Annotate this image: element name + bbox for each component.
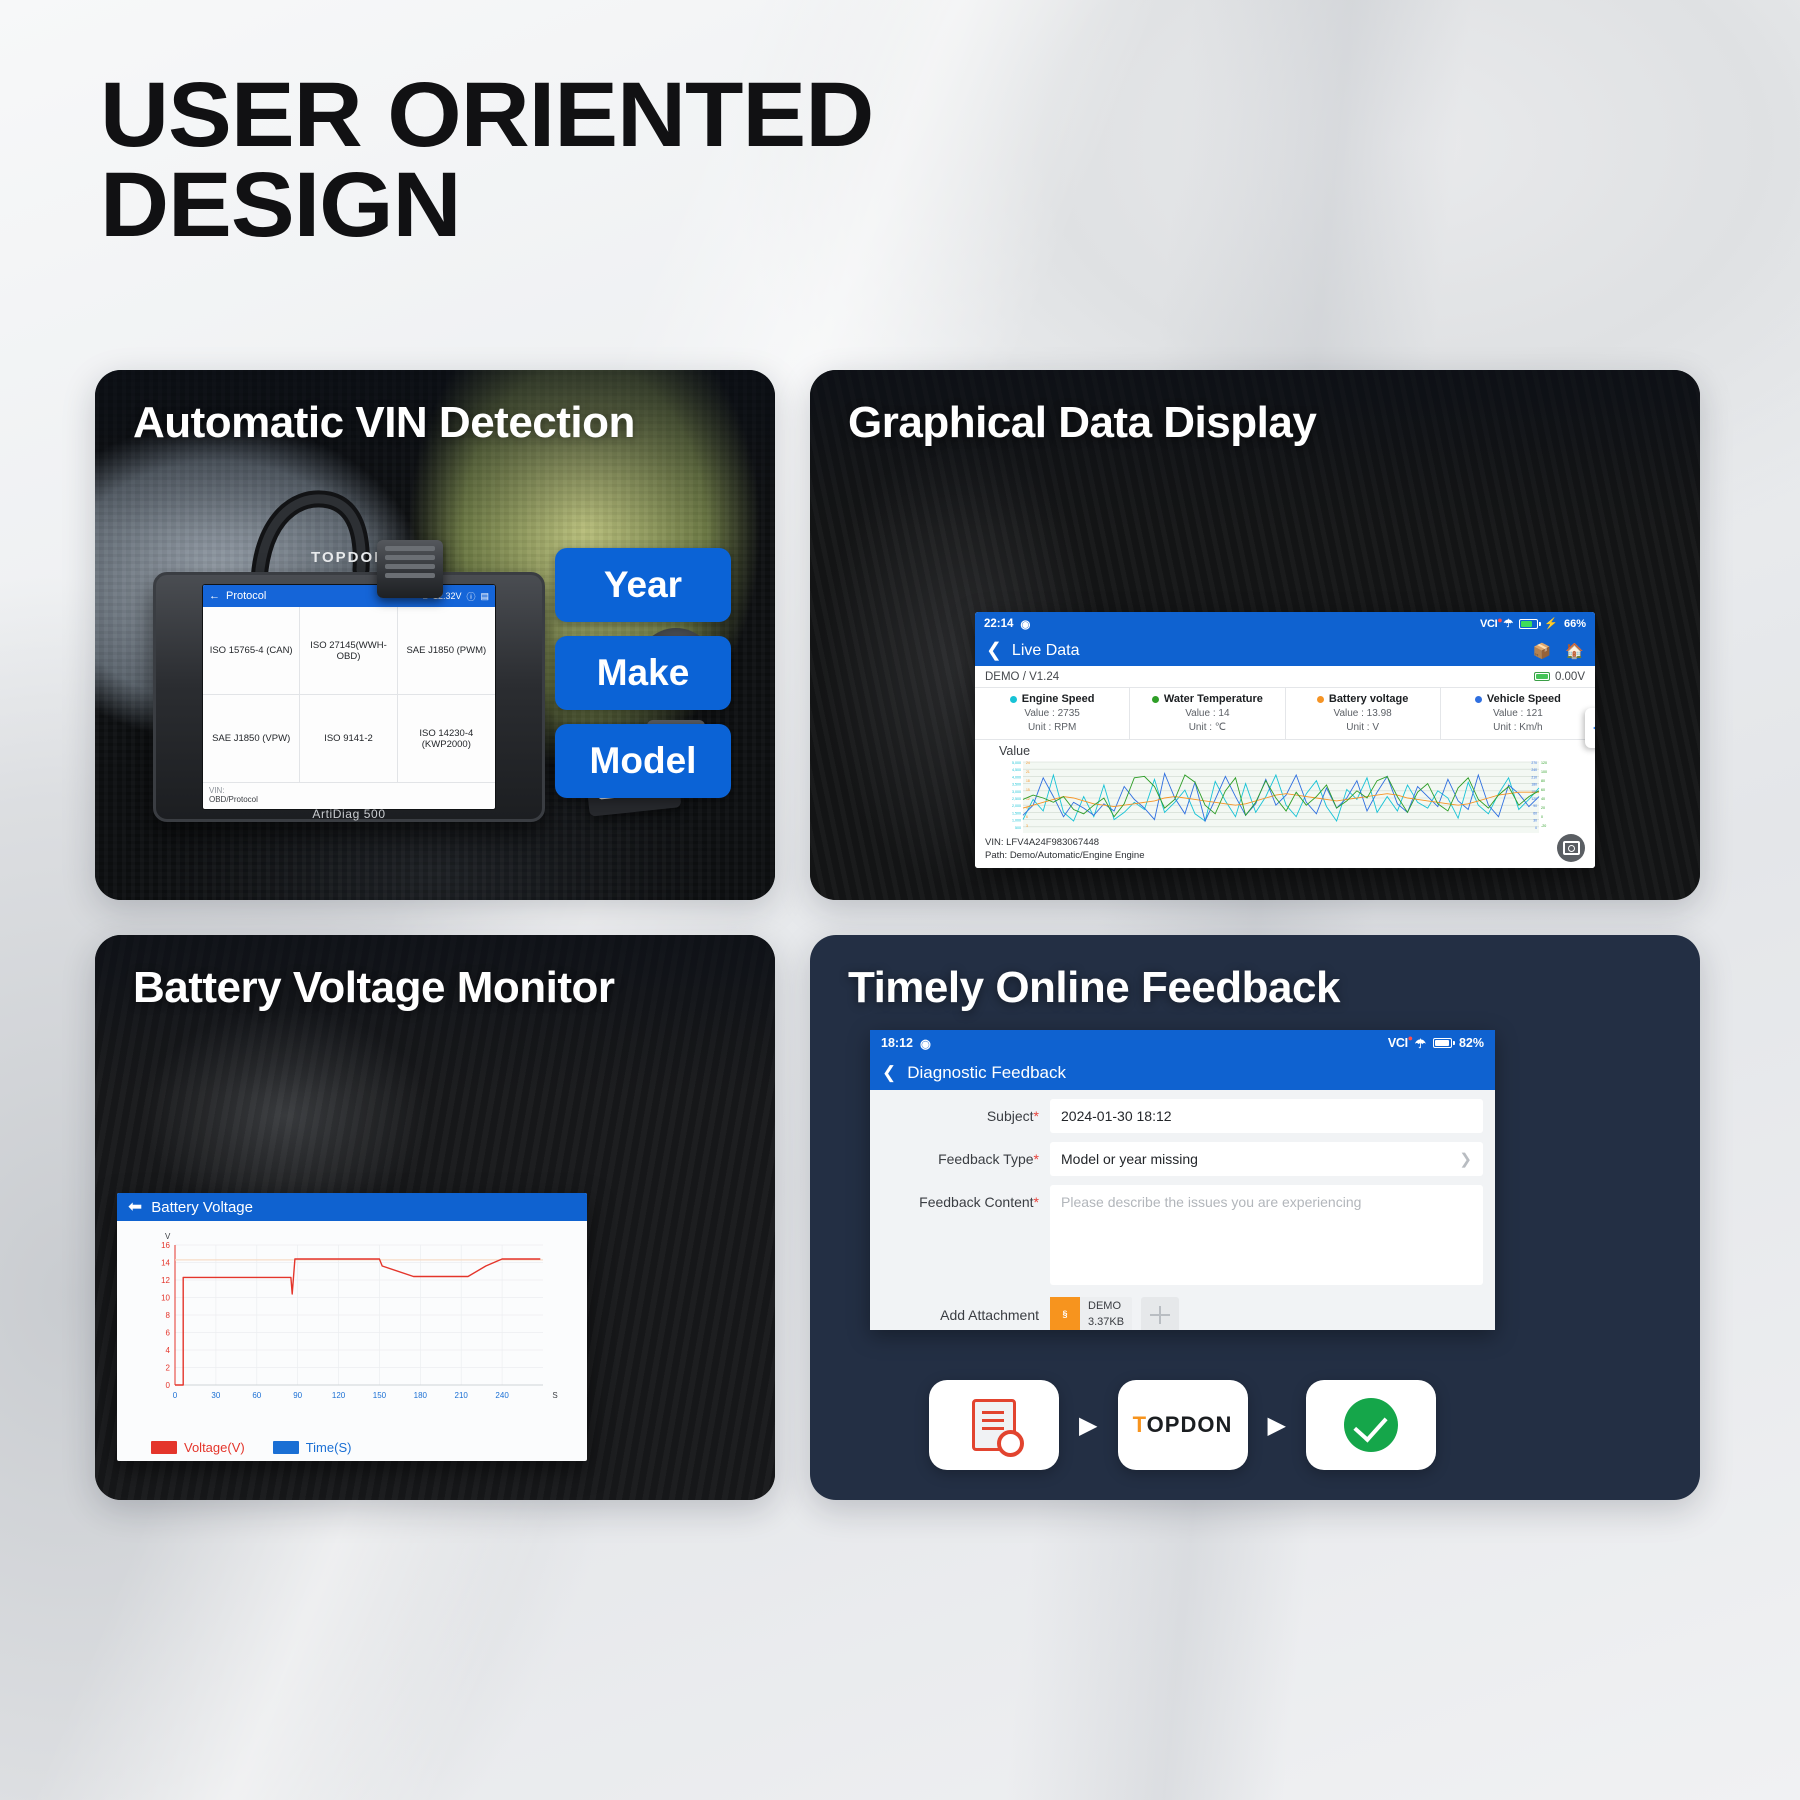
svg-text:16: 16: [161, 1241, 170, 1250]
live-data-column[interactable]: Engine Speed Value : 2735 Unit : RPM: [975, 688, 1130, 739]
battery-chart-legend: Voltage(V) Time(S): [151, 1440, 351, 1455]
svg-text:60: 60: [1541, 788, 1545, 792]
battery-nav-bar: ⬅ Battery Voltage: [117, 1193, 587, 1221]
diagnostic-feedback-screen: 18:12 ◉ VCI● ☂ 82% ❮ Diagnostic Feedback…: [870, 1030, 1495, 1330]
left-triangle-icon: [1593, 721, 1595, 735]
feedback-title: Diagnostic Feedback: [907, 1063, 1066, 1083]
series-unit: Unit : V: [1288, 722, 1438, 733]
vci-indicator: VCI●: [1388, 1036, 1408, 1050]
wifi-icon: ☂: [1415, 1036, 1426, 1051]
flow-arrow-2: ▶: [1268, 1411, 1286, 1440]
card-timely-online-feedback: Timely Online Feedback 18:12 ◉ VCI● ☂ 82…: [810, 935, 1700, 1500]
svg-text:4,500: 4,500: [1012, 768, 1021, 772]
legend-item-voltage: Voltage(V): [151, 1440, 245, 1455]
svg-text:12: 12: [161, 1276, 170, 1285]
svg-text:24: 24: [1026, 761, 1030, 765]
scanner-vin-line: VIN: OBD/Protocol: [203, 783, 495, 807]
series-unit: Unit : ℃: [1132, 722, 1282, 733]
charging-icon: ⚡: [1544, 617, 1558, 630]
record-icon: ◉: [920, 1036, 931, 1051]
live-data-column[interactable]: Vehicle Speed Value : 121 Unit : Km/h: [1441, 688, 1595, 739]
legend-item-time: Time(S): [273, 1440, 352, 1455]
series-name: Vehicle Speed: [1487, 693, 1561, 705]
svg-text:1,500: 1,500: [1012, 811, 1021, 815]
svg-text:150: 150: [373, 1391, 387, 1400]
svg-text:0: 0: [1541, 815, 1543, 819]
svg-text:2,000: 2,000: [1012, 804, 1021, 808]
subbar-voltage-group: 0.00V: [1534, 671, 1585, 683]
svg-text:0: 0: [173, 1391, 178, 1400]
live-data-column[interactable]: Battery voltage Value : 13.98 Unit : V: [1286, 688, 1441, 739]
battery-voltage-line-chart: V02468101214160306090120150180210240S: [123, 1227, 575, 1423]
svg-text:240: 240: [1531, 768, 1537, 772]
footer-path: Path: Demo/Automatic/Engine Engine: [985, 850, 1585, 863]
svg-text:30: 30: [211, 1391, 220, 1400]
artidiag-scanner-device: TOPDON ← Protocol ■ 12.32V ⓘ ▤ ISO 15765…: [153, 572, 545, 822]
legend-swatch: [273, 1441, 299, 1454]
svg-text:0: 0: [1535, 826, 1537, 830]
series-color-dot: [1475, 696, 1482, 703]
badge-year: Year: [555, 548, 731, 622]
series-unit: Unit : RPM: [977, 722, 1127, 733]
card-title-feedback: Timely Online Feedback: [848, 963, 1340, 1013]
svg-text:8: 8: [166, 1311, 171, 1320]
battery-voltage-screen: ⬅ Battery Voltage V024681012141603060901…: [117, 1193, 587, 1461]
check-circle-icon: [1344, 1398, 1398, 1452]
feedback-content-textarea[interactable]: Please describe the issues you are exper…: [1050, 1185, 1483, 1285]
svg-text:10: 10: [161, 1294, 170, 1303]
svg-text:1,000: 1,000: [1012, 819, 1021, 823]
svg-text:3: 3: [1026, 824, 1028, 828]
protocol-cell[interactable]: ISO 14230-4 (KWP2000): [398, 695, 495, 783]
card-graphical-data-display: Graphical Data Display 22:14 ◉ VCI● ☂ ⚡ …: [810, 370, 1700, 900]
feedback-flow-steps: ▶ TOPDON ▶: [870, 1380, 1495, 1470]
svg-text:0: 0: [166, 1381, 171, 1390]
attachment-file-chip[interactable]: § DEMO 3.37KB: [1050, 1297, 1132, 1330]
chevron-right-icon: ❯: [1459, 1150, 1472, 1168]
live-nav-bar: ❮ Live Data 📦 🏠: [975, 635, 1595, 666]
svg-text:90: 90: [1533, 804, 1537, 808]
scanner-model-label: ArtiDiag 500: [156, 807, 542, 821]
series-color-dot: [1317, 696, 1324, 703]
attachment-meta: DEMO 3.37KB: [1080, 1297, 1132, 1330]
zip-file-icon: §: [1050, 1297, 1080, 1330]
series-name: Battery voltage: [1329, 693, 1408, 705]
badge-model: Model: [555, 724, 731, 798]
protocol-cell[interactable]: ISO 9141-2: [300, 695, 397, 783]
svg-text:240: 240: [495, 1391, 509, 1400]
series-value: Value : 14: [1132, 708, 1282, 719]
svg-text:21: 21: [1026, 770, 1030, 774]
svg-text:2,500: 2,500: [1012, 797, 1021, 801]
demo-version-label: DEMO / V1.24: [985, 671, 1059, 683]
svg-text:210: 210: [455, 1391, 469, 1400]
series-color-dot: [1010, 696, 1017, 703]
live-nav-actions: 📦 🏠: [1533, 642, 1584, 660]
feedback-status-bar: 18:12 ◉ VCI● ☂ 82%: [870, 1030, 1495, 1056]
battery-percent: 66%: [1564, 618, 1586, 630]
scanner-screen: ← Protocol ■ 12.32V ⓘ ▤ ISO 15765-4 (CAN…: [202, 584, 496, 810]
attachment-label: Add Attachment: [870, 1307, 1050, 1323]
series-value: Value : 13.98: [1288, 708, 1438, 719]
home-icon[interactable]: 🏠: [1565, 642, 1584, 660]
battery-chart-body: V02468101214160306090120150180210240S Vo…: [117, 1221, 587, 1461]
svg-text:15: 15: [1026, 788, 1030, 792]
svg-text:80: 80: [1541, 779, 1545, 783]
live-data-tablet: 22:14 ◉ VCI● ☂ ⚡ 66% ❮ Live Data 📦 🏠 DEM…: [975, 612, 1595, 868]
feedback-type-select[interactable]: Model or year missing ❯: [1050, 1142, 1483, 1176]
svg-text:100: 100: [1541, 770, 1547, 774]
series-unit: Unit : Km/h: [1443, 722, 1593, 733]
background-image: [0, 0, 1800, 1800]
chart-axis-title: Value: [999, 744, 1587, 758]
title-scrim: [810, 370, 1700, 530]
document-search-icon: [972, 1399, 1016, 1451]
protocol-grid: ISO 15765-4 (CAN) ISO 27145(WWH-OBD) SAE…: [203, 607, 495, 783]
svg-text:-20: -20: [1541, 824, 1546, 828]
card-battery-voltage-monitor: Battery Voltage Monitor ⬅ Battery Voltag…: [95, 935, 775, 1500]
battery-icon: [1534, 672, 1550, 681]
attachment-name: DEMO: [1088, 1299, 1124, 1315]
svg-text:60: 60: [1533, 811, 1537, 815]
card-title-battery: Battery Voltage Monitor: [133, 963, 615, 1013]
status-time: 18:12: [881, 1036, 913, 1050]
subject-input[interactable]: 2024-01-30 18:12: [1050, 1099, 1483, 1133]
svg-text:2: 2: [166, 1364, 171, 1373]
title-scrim: [95, 370, 775, 530]
field-row-feedback-type: Feedback Type* Model or year missing ❯: [870, 1133, 1495, 1176]
svg-text:5,000: 5,000: [1012, 761, 1021, 765]
scanner-titlebar: ← Protocol ■ 12.32V ⓘ ▤: [203, 585, 495, 607]
battery-icon: [1519, 619, 1538, 629]
legend-label: Voltage(V): [184, 1440, 245, 1455]
live-data-columns: Engine Speed Value : 2735 Unit : RPM Wat…: [975, 688, 1595, 740]
protocol-cell[interactable]: ISO 27145(WWH-OBD): [300, 607, 397, 695]
svg-text:210: 210: [1531, 775, 1537, 779]
series-name: Engine Speed: [1022, 693, 1095, 705]
flow-step-brand: TOPDON: [1118, 1380, 1248, 1470]
battery-icon: [1433, 1038, 1452, 1048]
svg-text:4,000: 4,000: [1012, 775, 1021, 779]
svg-text:30: 30: [1533, 819, 1537, 823]
field-label-subject: Subject*: [870, 1099, 1050, 1124]
card-title-vin: Automatic VIN Detection: [133, 398, 635, 448]
series-color-dot: [1152, 696, 1159, 703]
back-chevron-icon[interactable]: ❮: [882, 1063, 896, 1083]
field-label-feedback-type: Feedback Type*: [870, 1142, 1050, 1167]
camera-icon[interactable]: [1557, 834, 1585, 862]
svg-text:V: V: [165, 1232, 171, 1241]
svg-text:6: 6: [1026, 815, 1028, 819]
obd-connector: [377, 540, 443, 598]
year-make-model-group: Year Make Model: [555, 548, 731, 812]
scanner-screen-title: Protocol: [226, 590, 266, 602]
attachment-size: 3.37KB: [1088, 1315, 1124, 1330]
svg-text:120: 120: [332, 1391, 346, 1400]
svg-text:4: 4: [166, 1346, 171, 1355]
page-title-line1: USER ORIENTED: [100, 70, 873, 160]
back-chevron-icon[interactable]: ❮: [986, 639, 1002, 662]
protocol-cell[interactable]: SAE J1850 (VPW): [203, 695, 300, 783]
live-data-title: Live Data: [1012, 642, 1080, 660]
next-page-button[interactable]: [1585, 708, 1595, 748]
vci-indicator: VCI●: [1480, 618, 1497, 630]
live-footer: VIN: LFV4A24F983067448 Path: Demo/Automa…: [975, 833, 1595, 868]
svg-text:20: 20: [1541, 806, 1545, 810]
flow-arrow-1: ▶: [1079, 1411, 1097, 1440]
status-indicators: VCI● ☂ ⚡ 66%: [1480, 617, 1586, 630]
flow-step-resolved: [1306, 1380, 1436, 1470]
svg-text:120: 120: [1541, 761, 1547, 765]
svg-text:3,500: 3,500: [1012, 783, 1021, 787]
series-name: Water Temperature: [1164, 693, 1263, 705]
flow-step-report: [929, 1380, 1059, 1470]
svg-text:60: 60: [252, 1391, 261, 1400]
page-title-line2: DESIGN: [100, 160, 873, 250]
series-value: Value : 2735: [977, 708, 1127, 719]
field-row-feedback-content: Feedback Content* Please describe the is…: [870, 1176, 1495, 1285]
back-arrow-icon[interactable]: ⬅: [128, 1197, 142, 1217]
title-scrim: [95, 935, 775, 1095]
svg-text:180: 180: [1531, 783, 1537, 787]
wifi-icon: ☂: [1503, 617, 1513, 630]
protocol-cell[interactable]: SAE J1850 (PWM): [398, 607, 495, 695]
plus-icon[interactable]: [1141, 1297, 1179, 1330]
scanner-brand-label: TOPDON: [156, 549, 542, 566]
live-status-bar: 22:14 ◉ VCI● ☂ ⚡ 66%: [975, 612, 1595, 635]
battery-percent: 82%: [1459, 1036, 1484, 1050]
series-value: Value : 121: [1443, 708, 1593, 719]
footer-vin: VIN: LFV4A24F983067448: [985, 837, 1585, 850]
legend-label: Time(S): [306, 1440, 352, 1455]
page-title: USER ORIENTED DESIGN: [100, 70, 873, 250]
subbar-voltage: 0.00V: [1555, 671, 1585, 683]
protocol-cell[interactable]: ISO 15765-4 (CAN): [203, 607, 300, 695]
svg-text:3,000: 3,000: [1012, 790, 1021, 794]
legend-swatch: [151, 1441, 177, 1454]
svg-text:270: 270: [1531, 761, 1537, 765]
menu-icon[interactable]: ▤: [480, 591, 489, 602]
svg-text:500: 500: [1015, 826, 1021, 830]
svg-text:40: 40: [1541, 797, 1545, 801]
scanner-vin-label: VIN:: [209, 786, 225, 795]
card-title-graph: Graphical Data Display: [848, 398, 1316, 448]
live-data-column[interactable]: Water Temperature Value : 14 Unit : ℃: [1130, 688, 1285, 739]
field-row-subject: Subject* 2024-01-30 18:12: [870, 1090, 1495, 1133]
help-icon[interactable]: ⓘ: [466, 590, 475, 603]
feedback-nav-bar: ❮ Diagnostic Feedback: [870, 1056, 1495, 1090]
record-icon: ◉: [1020, 617, 1030, 631]
svg-text:14: 14: [161, 1259, 170, 1268]
status-indicators: VCI● ☂ 82%: [1388, 1036, 1484, 1051]
badge-make: Make: [555, 636, 731, 710]
scanner-vin-sub: OBD/Protocol: [209, 795, 489, 804]
status-time: 22:14: [984, 618, 1013, 630]
svg-text:6: 6: [166, 1329, 171, 1338]
scanner-back-icon[interactable]: ←: [209, 590, 220, 602]
package-icon[interactable]: 📦: [1533, 642, 1552, 660]
battery-screen-title: Battery Voltage: [151, 1199, 253, 1216]
topdon-logo: TOPDON: [1133, 1412, 1233, 1438]
svg-text:18: 18: [1026, 779, 1030, 783]
card-automatic-vin-detection: Automatic VIN Detection TOPDON ← Protoco…: [95, 370, 775, 900]
svg-text:90: 90: [293, 1391, 302, 1400]
field-label-feedback-content: Feedback Content*: [870, 1185, 1050, 1210]
attachment-row: Add Attachment § DEMO 3.37KB: [870, 1285, 1495, 1330]
live-subbar: DEMO / V1.24 0.00V: [975, 666, 1595, 688]
svg-text:S: S: [552, 1391, 557, 1400]
svg-text:180: 180: [414, 1391, 428, 1400]
